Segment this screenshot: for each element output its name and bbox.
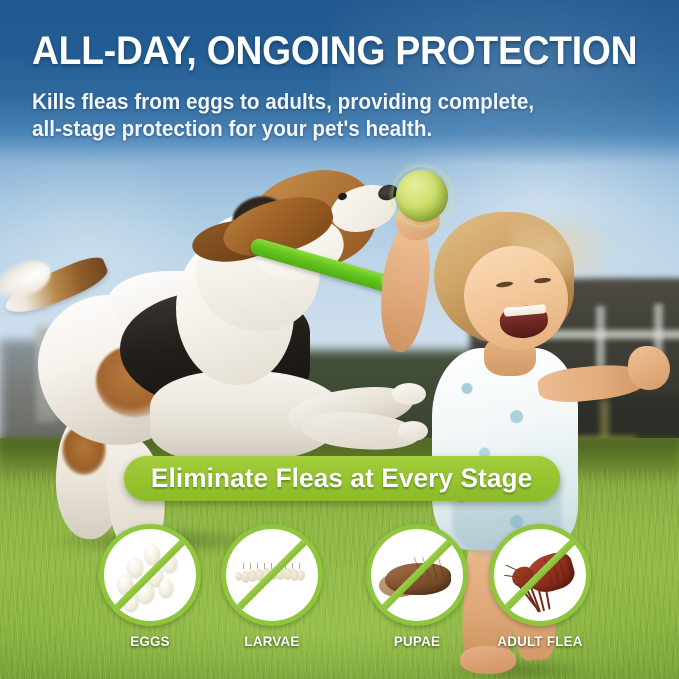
stage-pupae: PUPAE [355,524,479,649]
stage-label-pupae: PUPAE [358,633,476,649]
girl-foot [460,646,516,674]
stage-adult-flea: ADULT FLEA [478,524,602,649]
stage-larvae: LARVAE [210,524,334,649]
flea-eggs-icon [99,524,201,626]
eliminate-fleas-banner: Eliminate Fleas at Every Stage [124,456,560,501]
page-subtitle: Kills fleas from eggs to adults, providi… [32,88,534,142]
product-infographic: ALL-DAY, ONGOING PROTECTION Kills fleas … [0,0,679,679]
stage-label-adult-flea: ADULT FLEA [481,633,599,649]
girl-outstretched-hand [628,346,670,390]
page-title: ALL-DAY, ONGOING PROTECTION [32,29,637,73]
banner-label: Eliminate Fleas at Every Stage [151,463,532,494]
adult-flea-icon [489,524,591,626]
stage-label-larvae: LARVAE [213,633,331,649]
flea-pupae-icon [366,524,468,626]
stage-eggs: EGGS [88,524,212,649]
flea-lifecycle-stages: EGGS [0,524,679,644]
stage-label-eggs: EGGS [91,633,209,649]
flea-larvae-icon [221,524,323,626]
